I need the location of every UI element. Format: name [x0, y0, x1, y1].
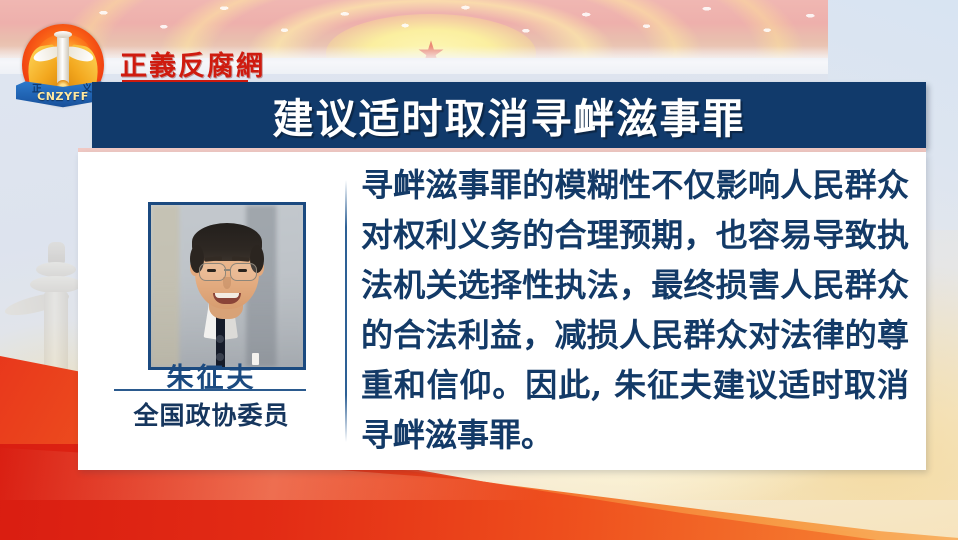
portrait-teeth: [215, 293, 239, 298]
portrait-frame: [148, 202, 306, 370]
portrait-column: 朱征夫 全国政协委员: [78, 152, 345, 470]
brand-name-cn: 正義反腐網: [120, 44, 265, 83]
portrait-photo: [151, 205, 303, 367]
portrait-nose: [223, 277, 231, 289]
page-title: 建议适时取消寻衅滋事罪: [92, 82, 926, 148]
portrait-eye-left: [207, 269, 216, 272]
card-vertical-divider: [345, 180, 347, 442]
portrait-eye-right: [238, 269, 247, 272]
article-body-text: 寻衅滋事罪的模糊性不仅影响人民群众对权利义务的合理预期，也容易导致执法机关选择性…: [361, 160, 909, 460]
person-title: 全国政协委员: [78, 396, 345, 432]
portrait-glasses-right: [230, 263, 257, 281]
poster-canvas: 正 义 CNZYFF 正義反腐網 ZHENG YI FAN FU WANG 追求…: [0, 0, 958, 540]
huabiao-cap-upper: [36, 262, 76, 277]
huabiao-beast: [48, 242, 65, 264]
huabiao-cap-lower: [30, 276, 82, 293]
article-body-column: 寻衅滋事罪的模糊性不仅影响人民群众对权利义务的合理预期，也容易导致执法机关选择性…: [361, 160, 909, 464]
portrait-glasses-left: [199, 263, 226, 281]
emblem-pillar-cap: [54, 31, 72, 38]
headline-bar: 建议适时取消寻衅滋事罪: [92, 82, 926, 148]
person-name-rule: [114, 389, 306, 391]
portrait-glasses-bridge: [224, 269, 230, 271]
portrait-button-upper: [216, 335, 224, 343]
article-card: 朱征夫 全国政协委员 寻衅滋事罪的模糊性不仅影响人民群众对权利义务的合理预期，也…: [78, 152, 926, 470]
